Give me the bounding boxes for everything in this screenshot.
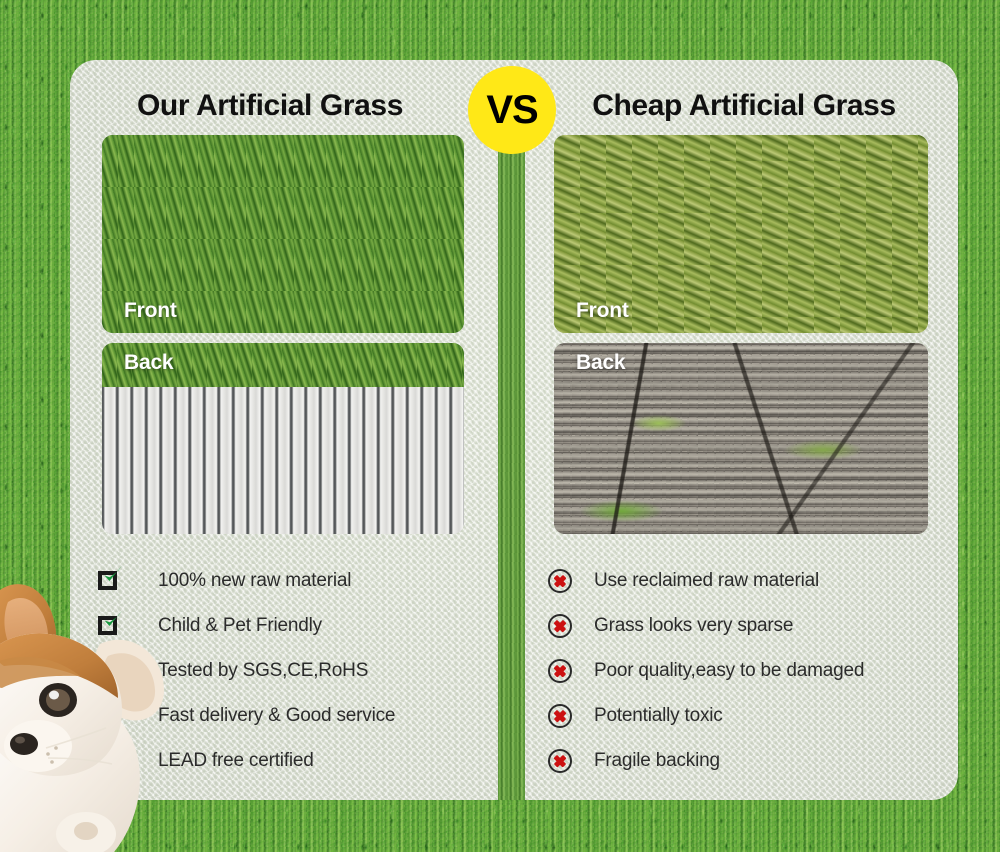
list-item: Grass looks very sparse: [548, 603, 928, 648]
panel-bad-back: Back: [554, 343, 928, 534]
dog-photo: [0, 548, 190, 852]
heading-cheap-grass: Cheap Artificial Grass: [530, 74, 958, 138]
list-item-label: Fragile backing: [594, 750, 720, 772]
list-item: Use reclaimed raw material: [548, 558, 928, 603]
cross-icon: [548, 749, 572, 773]
panel-good-front: Front: [102, 135, 464, 333]
list-item: Fragile backing: [548, 738, 928, 783]
panel-label-good-front: Front: [124, 299, 177, 323]
panel-label-good-back: Back: [124, 351, 173, 375]
panel-bad-front: Front: [554, 135, 928, 333]
feature-list-bad: Use reclaimed raw material Grass looks v…: [548, 558, 928, 783]
cross-icon: [548, 704, 572, 728]
list-item-label: Use reclaimed raw material: [594, 570, 819, 592]
heading-our-grass: Our Artificial Grass: [70, 74, 470, 138]
panel-label-bad-front: Front: [576, 299, 629, 323]
list-item-label: Grass looks very sparse: [594, 615, 793, 637]
column-divider: [498, 130, 525, 800]
list-item-label: Fast delivery & Good service: [158, 705, 395, 727]
list-item-label: Potentially toxic: [594, 705, 723, 727]
headings-row: Our Artificial Grass VS Cheap Artificial…: [70, 74, 958, 138]
list-item-label: Poor quality,easy to be damaged: [594, 660, 864, 682]
cross-icon: [548, 659, 572, 683]
panel-good-back: Back: [102, 343, 464, 534]
good-back-mesh-photo: [102, 387, 464, 534]
panel-label-bad-back: Back: [576, 351, 625, 375]
cross-icon: [548, 614, 572, 638]
cross-icon: [548, 569, 572, 593]
list-item: Potentially toxic: [548, 693, 928, 738]
comparison-card: Our Artificial Grass VS Cheap Artificial…: [70, 60, 958, 800]
list-item: Poor quality,easy to be damaged: [548, 648, 928, 693]
